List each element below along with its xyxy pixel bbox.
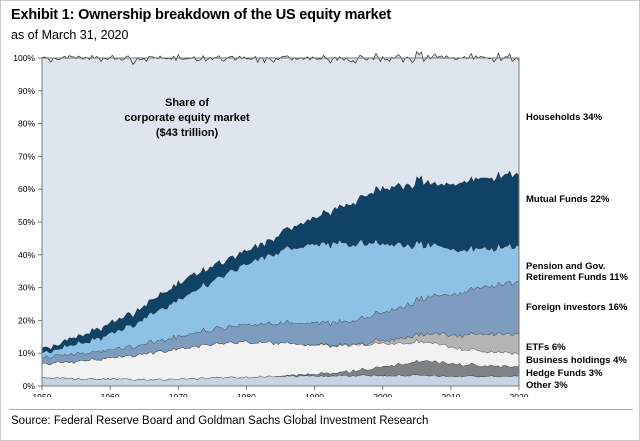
annotation-line: ($43 trillion) bbox=[156, 127, 219, 139]
series-label-pension1: Pension and Gov. bbox=[526, 261, 606, 272]
y-tick-label: 100% bbox=[13, 53, 35, 63]
series-label-households: Households 34% bbox=[526, 112, 603, 123]
x-tick-label: 1960 bbox=[101, 392, 120, 397]
page-subtitle: as of March 31, 2020 bbox=[11, 28, 128, 42]
x-tick-label: 1970 bbox=[169, 392, 188, 397]
stacked-area-chart: 0%10%20%30%40%50%60%70%80%90%100% 195019… bbox=[1, 47, 640, 397]
series-label-etfs: ETFs 6% bbox=[526, 342, 566, 353]
x-tick-label: 2000 bbox=[373, 392, 392, 397]
annotation-line: Share of bbox=[165, 97, 209, 109]
series-label-mutual-funds: Mutual Funds 22% bbox=[526, 194, 610, 205]
x-axis-ticks: 19501960197019801990200020102020 bbox=[33, 386, 529, 397]
y-tick-label: 10% bbox=[18, 348, 35, 358]
series-label-hedge: Hedge Funds 3% bbox=[526, 368, 603, 379]
exhibit-panel: Exhibit 1: Ownership breakdown of the US… bbox=[0, 0, 640, 441]
y-axis-ticks: 0%10%20%30%40%50%60%70%80%90%100% bbox=[13, 53, 42, 391]
x-tick-label: 2010 bbox=[441, 392, 460, 397]
series-label-foreign: Foreign investors 16% bbox=[526, 302, 628, 313]
chart-svg: 0%10%20%30%40%50%60%70%80%90%100% 195019… bbox=[1, 47, 640, 397]
page-title: Exhibit 1: Ownership breakdown of the US… bbox=[11, 7, 391, 23]
y-tick-label: 40% bbox=[18, 250, 35, 260]
x-tick-label: 2020 bbox=[510, 392, 529, 397]
series-label-pension2: Retirement Funds 11% bbox=[526, 272, 628, 283]
footer-divider bbox=[9, 409, 633, 410]
x-tick-label: 1950 bbox=[33, 392, 52, 397]
y-tick-label: 60% bbox=[18, 184, 35, 194]
y-tick-label: 80% bbox=[18, 119, 35, 129]
y-tick-label: 90% bbox=[18, 86, 35, 96]
x-tick-label: 1990 bbox=[305, 392, 324, 397]
y-tick-label: 50% bbox=[18, 217, 35, 227]
y-tick-label: 0% bbox=[23, 381, 36, 391]
source-note: Source: Federal Reserve Board and Goldma… bbox=[11, 415, 428, 427]
y-tick-label: 70% bbox=[18, 151, 35, 161]
annotation-line: corporate equity market bbox=[124, 112, 250, 124]
series-labels: Households 34%Mutual Funds 22%Pension an… bbox=[526, 112, 628, 391]
y-tick-label: 20% bbox=[18, 315, 35, 325]
series-label-business: Business holdings 4% bbox=[526, 355, 627, 366]
y-tick-label: 30% bbox=[18, 283, 35, 293]
series-label-other: Other 3% bbox=[526, 380, 568, 391]
chart-areas bbox=[42, 51, 519, 386]
x-tick-label: 1980 bbox=[237, 392, 256, 397]
